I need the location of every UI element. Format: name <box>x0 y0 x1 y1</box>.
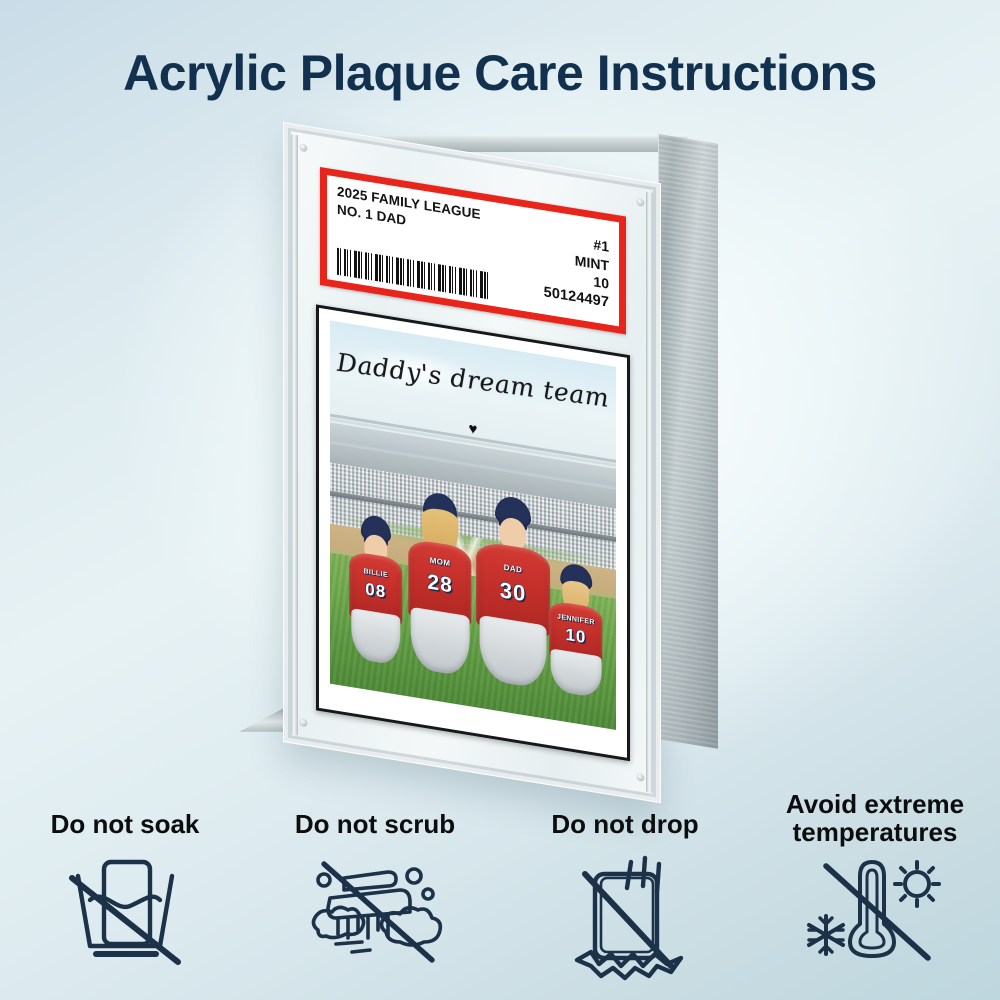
grading-label: 2025 FAMILY LEAGUE NO. 1 DAD #1 MINT 10 … <box>320 167 626 335</box>
care-label-no-soak: Do not soak <box>51 810 200 838</box>
no-scrub-icon <box>300 854 450 971</box>
jersey-number: 30 <box>500 577 526 607</box>
care-label-avoid-extreme-temperatures: Avoid extreme temperatures <box>786 790 964 846</box>
grading-label-right: #1 MINT 10 50124497 <box>479 217 609 313</box>
care-item-no-drop: Do not drop <box>500 790 750 1000</box>
page-title: Acrylic Plaque Care Instructions <box>0 44 1000 102</box>
care-label-no-drop: Do not drop <box>551 810 698 838</box>
figure-jennifer: JENNIFER 10 <box>542 559 611 700</box>
jersey-number: 10 <box>565 625 586 648</box>
jersey-number: 28 <box>427 570 452 598</box>
acrylic-plaque: 2025 FAMILY LEAGUE NO. 1 DAD #1 MINT 10 … <box>268 112 738 772</box>
plaque-left-highlight <box>291 134 298 735</box>
care-item-avoid-extreme-temperatures: Avoid extreme temperatures <box>750 790 1000 1000</box>
care-instructions-row: Do not soak Do not scrub <box>0 790 1000 1000</box>
figure-pants <box>480 615 547 689</box>
screw-icon <box>300 144 307 152</box>
no-extreme-temperature-icon <box>800 854 950 971</box>
plaque-right-highlight <box>646 192 653 793</box>
photo-artwork: Daddy's dream team ♥ BILLIE 08 <box>330 321 616 730</box>
screw-icon <box>637 198 644 206</box>
jersey-number: 08 <box>365 580 386 603</box>
barcode-icon <box>337 248 489 300</box>
care-label-no-scrub: Do not scrub <box>295 810 455 838</box>
screw-icon <box>637 773 644 781</box>
no-soak-icon <box>60 854 190 974</box>
figure-pants <box>551 649 602 699</box>
care-item-no-scrub: Do not scrub <box>250 790 500 1000</box>
figure-mom: MOM 28 <box>402 487 479 678</box>
screw-icon <box>300 719 307 727</box>
figure-pants <box>411 607 470 677</box>
plaque-front-face: 2025 FAMILY LEAGUE NO. 1 DAD #1 MINT 10 … <box>283 122 661 803</box>
figure-billie: BILLIE 08 <box>341 510 410 667</box>
no-drop-icon <box>555 854 695 987</box>
care-item-no-soak: Do not soak <box>0 790 250 1000</box>
photo-frame: Daddy's dream team ♥ BILLIE 08 <box>316 304 630 761</box>
plaque-side-edge <box>658 134 718 749</box>
figure-pants <box>351 608 400 666</box>
